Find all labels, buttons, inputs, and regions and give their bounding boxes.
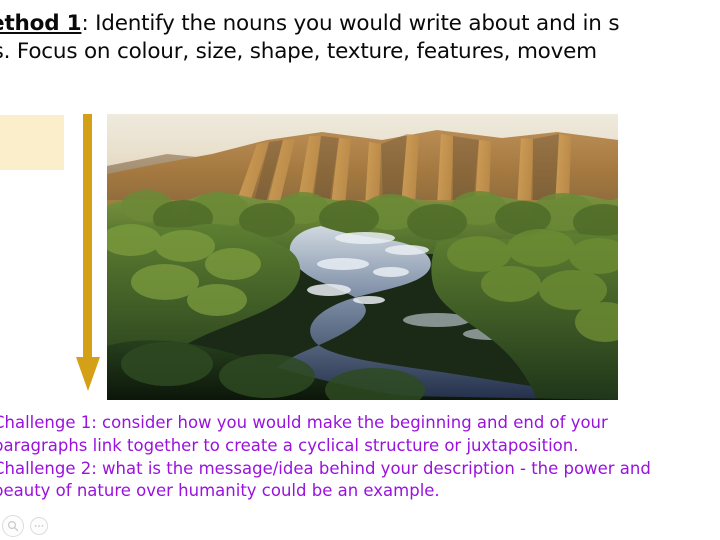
challenge-line-4: beauty of nature over humanity could be …	[0, 480, 720, 503]
challenge-line-3: Challenge 2: what is the message/idea be…	[0, 458, 720, 481]
zoom-icon[interactable]	[2, 515, 24, 537]
callout-box: own	[0, 115, 64, 170]
challenge-line-2: paragraphs link together to create a cyc…	[0, 435, 720, 458]
landscape-photo	[107, 114, 618, 400]
more-options-icon[interactable]	[30, 517, 48, 535]
page-title-lead: ning method 1	[0, 11, 81, 36]
down-arrow-icon	[74, 114, 102, 392]
slide-canvas: ning method 1: Identify the nouns you wo…	[0, 0, 720, 540]
viewer-controls	[2, 515, 48, 537]
page-title-line2: le details. Focus on colour, size, shape…	[0, 38, 597, 66]
page-title: ning method 1: Identify the nouns you wo…	[0, 10, 720, 38]
challenge-line-1: Challenge 1: consider how you would make…	[0, 412, 720, 435]
page-title-rest: : Identify the nouns you would write abo…	[81, 11, 619, 36]
challenge-text: Challenge 1: consider how you would make…	[0, 412, 720, 503]
